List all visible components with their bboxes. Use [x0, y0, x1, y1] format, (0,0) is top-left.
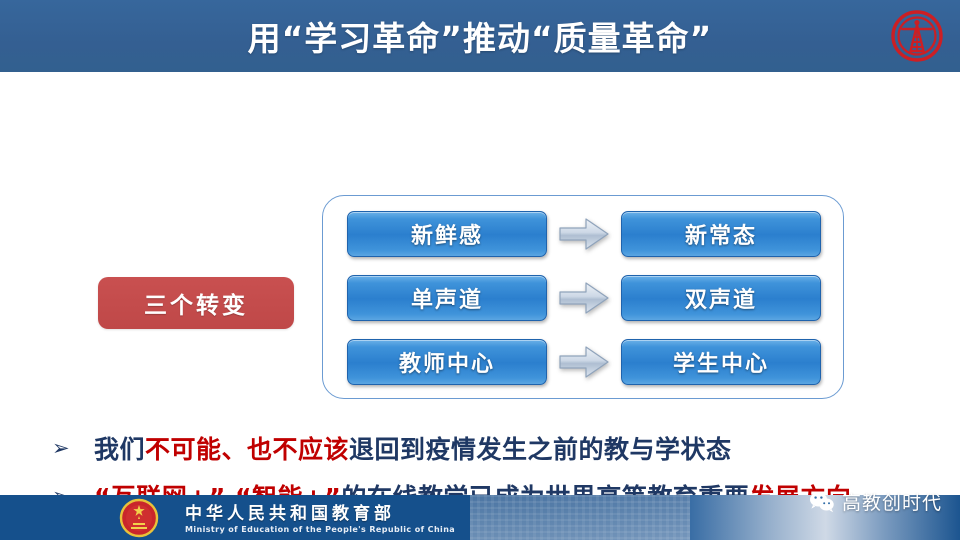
- right-arrow-icon: [547, 217, 621, 251]
- bullet-item: ➢ 我们不可能、也不应该退回到疫情发生之前的教与学状态: [0, 424, 960, 472]
- ministry-building-photo: [470, 495, 690, 540]
- transition-from-box[interactable]: 新鲜感: [347, 211, 547, 257]
- wechat-icon: [809, 491, 835, 513]
- transition-row: 教师中心 学生中心: [323, 338, 845, 386]
- page-title: 用“学习革命”推动“质量革命”: [248, 12, 713, 60]
- watermark-text: 高教创时代: [842, 488, 942, 515]
- bullet-segment-highlight: 不可能、也不应该: [145, 435, 349, 464]
- transition-row: 新鲜感 新常态: [323, 210, 845, 258]
- ministry-name-en: Ministry of Education of the People's Re…: [185, 525, 455, 534]
- transition-row: 单声道 双声道: [323, 274, 845, 322]
- transition-from-label: 新鲜感: [411, 218, 483, 250]
- transition-to-label: 新常态: [685, 218, 757, 250]
- transition-from-label: 教师中心: [399, 346, 495, 378]
- transition-to-box[interactable]: 双声道: [621, 275, 821, 321]
- right-arrow-icon: [547, 281, 621, 315]
- transition-diagram-frame: 新鲜感 新常态 单声道: [322, 195, 844, 399]
- ministry-identity: 中华人民共和国教育部 Ministry of Education of the …: [185, 499, 455, 534]
- red-pill-text: 三个转变: [144, 286, 248, 320]
- transition-rows: 新鲜感 新常态 单声道: [323, 196, 845, 400]
- bullet-text: 我们不可能、也不应该退回到疫情发生之前的教与学状态: [94, 430, 732, 466]
- watermark: 高教创时代: [809, 488, 942, 515]
- transition-to-label: 双声道: [685, 282, 757, 314]
- ministry-name-cn: 中华人民共和国教育部: [185, 499, 455, 524]
- right-arrow-icon: [547, 345, 621, 379]
- transition-to-box[interactable]: 学生中心: [621, 339, 821, 385]
- three-transformations-label: 三个转变: [98, 277, 294, 329]
- slide-header: 用“学习革命”推动“质量革命”: [0, 0, 960, 72]
- bullet-marker-icon: ➢: [52, 438, 94, 459]
- transition-from-box[interactable]: 教师中心: [347, 339, 547, 385]
- bullet-segment: 我们: [94, 435, 145, 464]
- transition-from-box[interactable]: 单声道: [347, 275, 547, 321]
- transition-to-label: 学生中心: [673, 346, 769, 378]
- china-national-emblem-icon: [118, 497, 160, 539]
- red-circular-tower-emblem-icon: [886, 6, 948, 66]
- transition-to-box[interactable]: 新常态: [621, 211, 821, 257]
- slide-body: 三个转变 新鲜感 新常态: [0, 72, 960, 495]
- transition-from-label: 单声道: [411, 282, 483, 314]
- bullet-segment: 退回到疫情发生之前的教与学状态: [349, 435, 732, 464]
